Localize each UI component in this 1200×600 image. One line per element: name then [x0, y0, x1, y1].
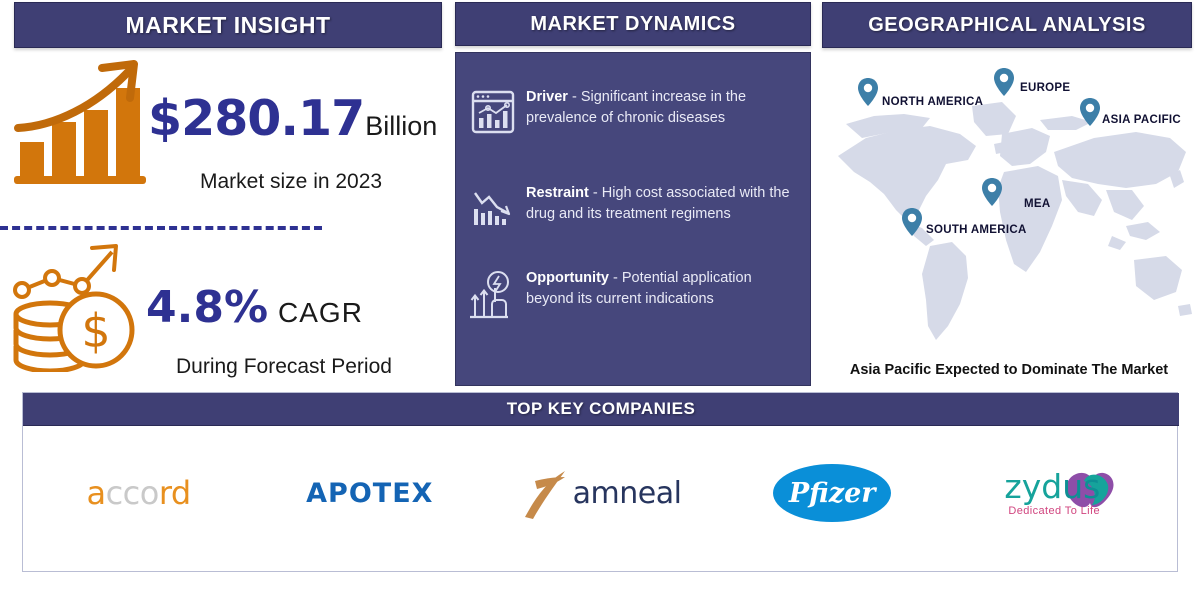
- dynamics-item-restraint: Restraint - High cost associated with th…: [464, 183, 804, 229]
- pfizer-logo: Pfizer: [773, 464, 891, 522]
- zydus-logo: zydus Dedicated To Life: [998, 461, 1128, 525]
- amneal-logo: amneal: [521, 465, 682, 521]
- company-logo-zydus[interactable]: zydus Dedicated To Life: [948, 433, 1179, 553]
- coin-stack-dollar-growth-icon: $: [8, 242, 148, 372]
- section-header-geographical-analysis: GEOGRAPHICAL ANALYSIS: [822, 2, 1192, 48]
- map-pin-north-america: [858, 78, 878, 106]
- dynamics-item-label: Driver: [526, 89, 568, 105]
- declining-bar-chart-icon: [464, 183, 522, 229]
- region-label-mea: MEA: [1024, 198, 1050, 210]
- top-key-companies-title: TOP KEY COMPANIES: [507, 399, 696, 419]
- company-logo-pfizer[interactable]: Pfizer: [717, 433, 948, 553]
- geographical-analysis-panel: NORTH AMERICA EUROPE ASIA PACIFIC MEA SO…: [818, 50, 1200, 390]
- cagr-unit: CAGR: [278, 297, 363, 329]
- hand-growth-arrows-icon: [464, 268, 522, 322]
- cagr-value-row: 4.8% CAGR: [146, 282, 363, 333]
- accord-logo-part-c: rd: [159, 474, 191, 512]
- dynamics-item-text: Opportunity - Potential application beyo…: [522, 268, 804, 322]
- company-logo-accord[interactable]: accord: [23, 433, 254, 553]
- dynamics-item-text: Restraint - High cost associated with th…: [522, 183, 804, 229]
- accord-logo-part-a: a: [86, 474, 105, 512]
- cagr-value: 4.8%: [146, 282, 268, 333]
- market-dynamics-panel: Driver - Significant increase in the pre…: [455, 52, 811, 386]
- company-logo-apotex[interactable]: APOTEX: [254, 433, 485, 553]
- accord-logo-part-b: cco: [106, 474, 159, 512]
- world-map: NORTH AMERICA EUROPE ASIA PACIFIC MEA SO…: [826, 60, 1198, 360]
- dynamics-item-opportunity: Opportunity - Potential application beyo…: [464, 268, 804, 322]
- zydus-logo-text: zydus: [1004, 467, 1100, 506]
- market-insight-panel: $280.17 Billion Market size in 2023 $: [0, 50, 448, 390]
- company-logo-strip: accord APOTEX amneal Pfizer: [23, 433, 1179, 553]
- amneal-swoosh-icon: [521, 465, 573, 521]
- dynamics-item-label: Restraint: [526, 185, 589, 201]
- market-size-caption: Market size in 2023: [200, 170, 382, 194]
- map-pin-south-america: [902, 208, 922, 236]
- region-label-south-america: SOUTH AMERICA: [926, 224, 1027, 236]
- top-key-companies-header: TOP KEY COMPANIES: [23, 393, 1179, 426]
- zydus-tagline: Dedicated To Life: [1008, 505, 1100, 517]
- apotex-logo-text: APOTEX: [306, 478, 433, 509]
- accord-logo-text: accord: [86, 474, 190, 512]
- geographical-analysis-title: GEOGRAPHICAL ANALYSIS: [868, 14, 1146, 37]
- pfizer-logo-text: Pfizer: [773, 464, 891, 522]
- company-logo-amneal[interactable]: amneal: [485, 433, 716, 553]
- dynamics-item-dash: -: [613, 270, 618, 286]
- geographical-caption: Asia Pacific Expected to Dominate The Ma…: [818, 362, 1200, 378]
- top-key-companies-panel: TOP KEY COMPANIES accord APOTEX amneal: [22, 392, 1178, 572]
- map-pin-asia-pacific: [1080, 98, 1100, 126]
- section-header-market-insight: MARKET INSIGHT: [14, 2, 442, 48]
- region-label-europe: EUROPE: [1020, 82, 1070, 94]
- dynamics-item-dash: -: [572, 89, 577, 105]
- cagr-caption: During Forecast Period: [176, 355, 392, 379]
- dynamics-item-dash: -: [593, 185, 598, 201]
- amneal-logo-text: amneal: [573, 476, 682, 511]
- svg-text:$: $: [81, 304, 110, 358]
- region-label-north-america: NORTH AMERICA: [882, 96, 983, 108]
- dynamics-item-driver: Driver - Significant increase in the pre…: [464, 87, 804, 135]
- dashboard-analytics-icon: [464, 87, 522, 135]
- region-label-asia-pacific: ASIA PACIFIC: [1102, 114, 1181, 126]
- market-size-value: $280.17: [148, 90, 364, 147]
- dynamics-item-text: Driver - Significant increase in the pre…: [522, 87, 804, 135]
- market-size-value-row: $280.17 Billion: [148, 90, 437, 147]
- bar-chart-growth-icon: [10, 58, 150, 188]
- map-pin-europe: [994, 68, 1014, 96]
- zydus-logo-part-us: us: [1062, 467, 1100, 506]
- dynamics-item-label: Opportunity: [526, 270, 609, 286]
- section-divider: [0, 226, 322, 230]
- market-insight-title: MARKET INSIGHT: [125, 12, 330, 39]
- zydus-logo-part-zyd: zyd: [1004, 467, 1062, 506]
- map-pin-mea: [982, 178, 1002, 206]
- section-header-market-dynamics: MARKET DYNAMICS: [455, 2, 811, 46]
- infographic-canvas: MARKET INSIGHT MARKET DYNAMICS GEOGRAPHI…: [0, 0, 1200, 600]
- market-dynamics-title: MARKET DYNAMICS: [530, 13, 735, 36]
- market-size-unit: Billion: [365, 111, 437, 142]
